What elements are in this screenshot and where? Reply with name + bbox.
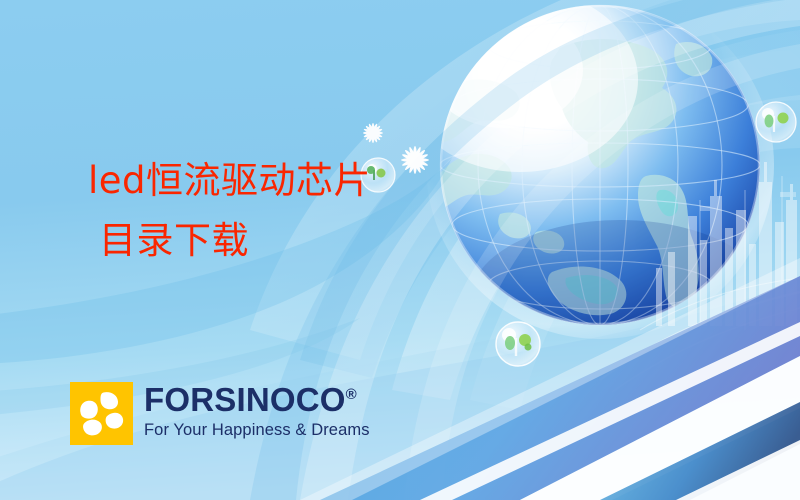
logo-wordmark: FORSINOCO® xyxy=(144,383,370,416)
sparkle-star-small xyxy=(363,123,383,143)
headline-block: led恒流驱动芯片 目录下载 xyxy=(88,162,508,259)
logo-wordmark-block: FORSINOCO® For Your Happiness & Dreams xyxy=(144,382,370,439)
brand-logo[interactable]: FORSINOCO® For Your Happiness & Dreams xyxy=(70,382,370,445)
bubble-plant-right xyxy=(756,102,796,142)
headline-line-2: 目录下载 xyxy=(99,222,508,260)
logo-tagline: For Your Happiness & Dreams xyxy=(144,422,370,439)
headline-line-1: led恒流驱动芯片 xyxy=(88,162,508,200)
four-petal-pinwheel-icon xyxy=(70,382,133,445)
logo-brand-text: FORSINOCO xyxy=(144,381,346,418)
bubble-plant-center xyxy=(496,322,540,366)
slide-canvas: led恒流驱动芯片 目录下载 FORSINOCO® xyxy=(0,0,800,500)
registered-trademark-icon: ® xyxy=(346,386,357,403)
